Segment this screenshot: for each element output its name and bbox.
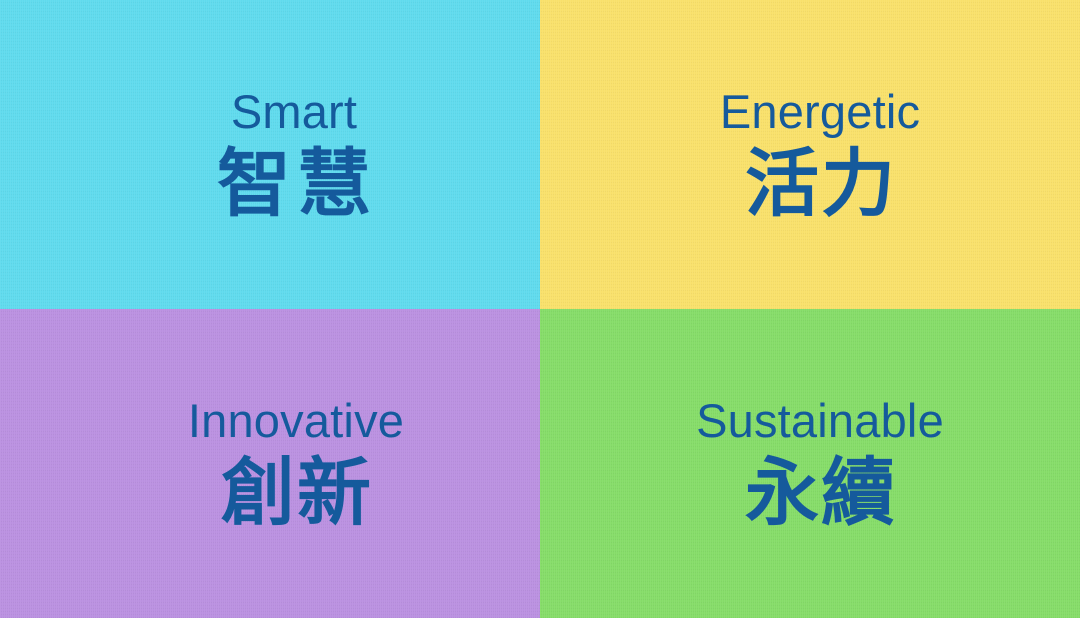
text-lockup-sustainable: Sustainable 永續 (696, 397, 944, 530)
quadrant-smart: Smart 智慧 (0, 0, 540, 309)
label-zh-smart: 智慧 (211, 147, 377, 221)
label-en-smart: Smart (231, 88, 357, 135)
text-lockup-innovative: Innovative 創新 (188, 397, 404, 530)
quadrant-energetic: Energetic 活力 (540, 0, 1080, 309)
quadrant-sustainable: Sustainable 永續 (540, 309, 1080, 618)
label-zh-sustainable: 永續 (743, 456, 897, 530)
text-lockup-energetic: Energetic 活力 (720, 88, 920, 221)
label-zh-innovative: 創新 (219, 456, 373, 530)
text-lockup-smart: Smart 智慧 (211, 88, 377, 221)
label-en-innovative: Innovative (188, 397, 404, 444)
quadrant-innovative: Innovative 創新 (0, 309, 540, 618)
brand-values-poster: Smart 智慧 Energetic 活力 Innovative 創新 Sust… (0, 0, 1080, 618)
label-en-sustainable: Sustainable (696, 397, 944, 444)
label-en-energetic: Energetic (720, 88, 920, 135)
label-zh-energetic: 活力 (743, 147, 897, 221)
